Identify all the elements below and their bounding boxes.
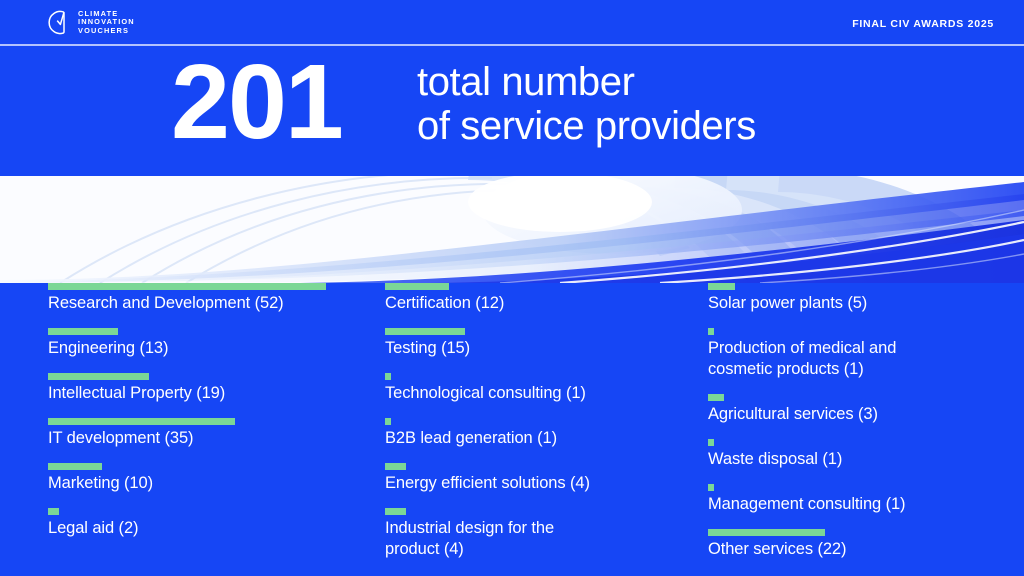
list-item[interactable]: Testing (15)	[385, 328, 685, 359]
brand-logo-text: CLIMATE INNOVATION VOUCHERS	[78, 10, 135, 35]
label-marketing: Marketing (10)	[48, 473, 358, 494]
service-provider-breakdown: Research and Development (52) Engineerin…	[0, 283, 1024, 576]
list-item[interactable]: B2B lead generation (1)	[385, 418, 685, 449]
services-column-1: Research and Development (52) Engineerin…	[48, 283, 358, 553]
list-item[interactable]: Legal aid (2)	[48, 508, 358, 539]
label-management-consulting: Management consulting (1)	[708, 494, 998, 515]
bar-b2b-lead-generation	[385, 418, 391, 425]
label-production-of-medical-and-cosmetic-products: Production of medical and cosmetic produ…	[708, 338, 998, 380]
top-bar: CLIMATE INNOVATION VOUCHERS FINAL CIV AW…	[0, 0, 1024, 44]
services-column-3: Solar power plants (5) Production of med…	[708, 283, 998, 574]
bar-legal-aid	[48, 508, 59, 515]
label-engineering: Engineering (13)	[48, 338, 358, 359]
list-item[interactable]: Management consulting (1)	[708, 484, 998, 515]
label-certification: Certification (12)	[385, 293, 685, 314]
bar-energy-efficient-solutions	[385, 463, 406, 470]
bar-it-development	[48, 418, 235, 425]
label-technological-consulting: Technological consulting (1)	[385, 383, 685, 404]
label-intellectual-property: Intellectual Property (19)	[48, 383, 358, 404]
bar-research-and-development	[48, 283, 326, 290]
slide-root: CLIMATE INNOVATION VOUCHERS FINAL CIV AW…	[0, 0, 1024, 576]
hero-total-number: 201	[171, 42, 342, 162]
list-item[interactable]: Research and Development (52)	[48, 283, 358, 314]
list-item[interactable]: Waste disposal (1)	[708, 439, 998, 470]
bar-agricultural-services	[708, 394, 724, 401]
label-energy-efficient-solutions: Energy efficient solutions (4)	[385, 473, 685, 494]
bar-other-services	[708, 529, 825, 536]
list-item[interactable]: Production of medical and cosmetic produ…	[708, 328, 998, 380]
bar-intellectual-property	[48, 373, 149, 380]
list-item[interactable]: Solar power plants (5)	[708, 283, 998, 314]
label-legal-aid: Legal aid (2)	[48, 518, 358, 539]
label-research-and-development: Research and Development (52)	[48, 293, 358, 314]
bar-management-consulting	[708, 484, 714, 491]
bar-waste-disposal	[708, 439, 714, 446]
label-other-services: Other services (22)	[708, 539, 998, 560]
label-testing: Testing (15)	[385, 338, 685, 359]
label-industrial-design-for-the-product: Industrial design for the product (4)	[385, 518, 685, 560]
label-it-development: IT development (35)	[48, 428, 358, 449]
bar-solar-power-plants	[708, 283, 735, 290]
hero-caption: total number of service providers	[417, 60, 756, 148]
brand-logo: CLIMATE INNOVATION VOUCHERS	[44, 9, 135, 36]
list-item[interactable]: Energy efficient solutions (4)	[385, 463, 685, 494]
list-item[interactable]: Engineering (13)	[48, 328, 358, 359]
label-waste-disposal: Waste disposal (1)	[708, 449, 998, 470]
label-b2b-lead-generation: B2B lead generation (1)	[385, 428, 685, 449]
bar-engineering	[48, 328, 118, 335]
bar-production-of-medical-and-cosmetic-products	[708, 328, 714, 335]
label-solar-power-plants: Solar power plants (5)	[708, 293, 998, 314]
list-item[interactable]: IT development (35)	[48, 418, 358, 449]
list-item[interactable]: Intellectual Property (19)	[48, 373, 358, 404]
awards-tagline: FINAL CIV AWARDS 2025	[852, 18, 994, 30]
list-item[interactable]: Technological consulting (1)	[385, 373, 685, 404]
list-item[interactable]: Certification (12)	[385, 283, 685, 314]
list-item[interactable]: Marketing (10)	[48, 463, 358, 494]
decorative-wave-band	[0, 176, 1024, 283]
bar-testing	[385, 328, 465, 335]
list-item[interactable]: Agricultural services (3)	[708, 394, 998, 425]
bar-marketing	[48, 463, 102, 470]
hero-section: 201 total number of service providers	[0, 46, 1024, 175]
list-item[interactable]: Other services (22)	[708, 529, 998, 560]
list-item[interactable]: Industrial design for the product (4)	[385, 508, 685, 560]
bar-technological-consulting	[385, 373, 391, 380]
bar-certification	[385, 283, 449, 290]
civ-circle-check-logo-icon	[44, 9, 69, 36]
services-column-2: Certification (12) Testing (15) Technolo…	[385, 283, 685, 574]
label-agricultural-services: Agricultural services (3)	[708, 404, 998, 425]
bar-industrial-design-for-the-product	[385, 508, 406, 515]
